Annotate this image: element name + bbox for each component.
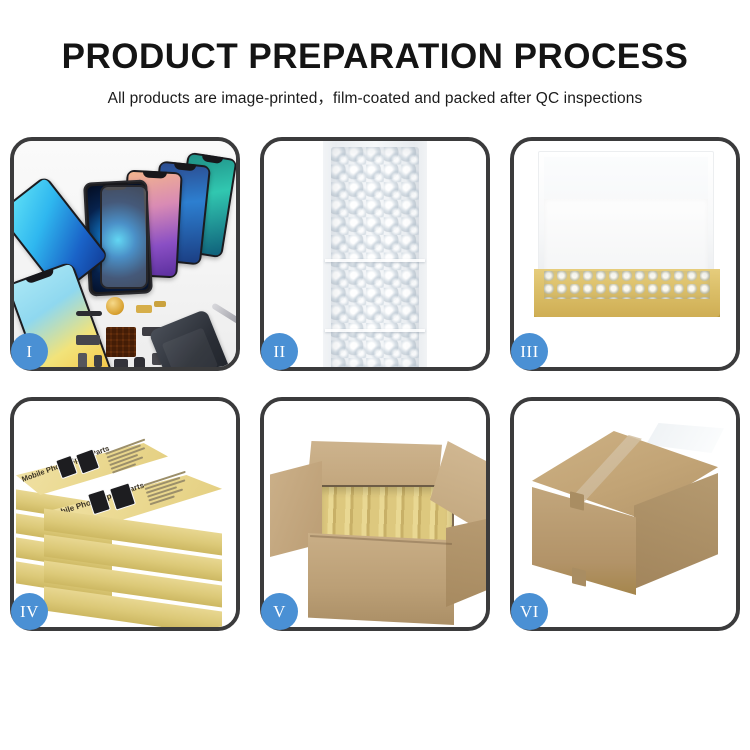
step-3-image [514, 141, 736, 367]
step-badge-5: V [261, 593, 298, 630]
step-badge-2: II [261, 333, 298, 370]
part-sim-tray-icon [78, 353, 87, 367]
step-1-image [14, 141, 236, 367]
step-4-image: Mobile Phone Spare Parts Mobile Phone Sp… [14, 401, 236, 627]
part-bracket-icon [76, 335, 100, 345]
carton-side-face [446, 515, 486, 607]
step-badge-1: I [11, 333, 48, 370]
screen-protector-icon [100, 185, 148, 289]
step-badge-3: III [511, 333, 548, 370]
page-title: PRODUCT PREPARATION PROCESS [0, 0, 750, 78]
retail-box-spec-lines [105, 439, 153, 476]
part-button-icon [94, 355, 102, 367]
foam-padding-icon [544, 199, 708, 277]
bubble-wrap-seam [325, 259, 425, 262]
carton-front-face [308, 533, 454, 625]
part-camera-module-icon [114, 359, 128, 367]
step-badge-6: VI [511, 593, 548, 630]
carton-flap-tab [570, 491, 584, 510]
part-vibrator-icon [134, 357, 145, 367]
part-small-clip-icon [154, 301, 166, 307]
page-subtitle: All products are image-printed，film-coat… [0, 78, 750, 108]
bubble-wrap-icon [331, 147, 419, 367]
process-step-panel-6: VI [510, 397, 740, 631]
part-grid-mesh-icon [106, 327, 136, 357]
part-flex-cable-icon [136, 305, 152, 313]
carton-flap-tab [572, 567, 586, 586]
bubble-wrapped-contents-icon [544, 271, 710, 299]
bubble-wrap-seam [325, 329, 425, 332]
process-step-panel-3: III [510, 137, 740, 371]
step-6-image [514, 401, 736, 627]
process-step-panel-5: V [260, 397, 490, 631]
part-speaker-coil-icon [106, 297, 124, 315]
process-steps-grid: I II III [10, 137, 740, 685]
process-step-panel-2: II [260, 137, 490, 371]
process-step-panel-1: I [10, 137, 240, 371]
process-step-panel-4: Mobile Phone Spare Parts Mobile Phone Sp… [10, 397, 240, 631]
step-5-image [264, 401, 486, 627]
product-preparation-page: PRODUCT PREPARATION PROCESS All products… [0, 0, 750, 750]
page-header: PRODUCT PREPARATION PROCESS All products… [0, 0, 750, 108]
step-badge-4: IV [11, 593, 48, 630]
step-2-image [264, 141, 486, 367]
tweezers-icon [211, 302, 236, 325]
phone-back-housing-icon [148, 309, 236, 367]
part-connector-icon [76, 311, 102, 316]
